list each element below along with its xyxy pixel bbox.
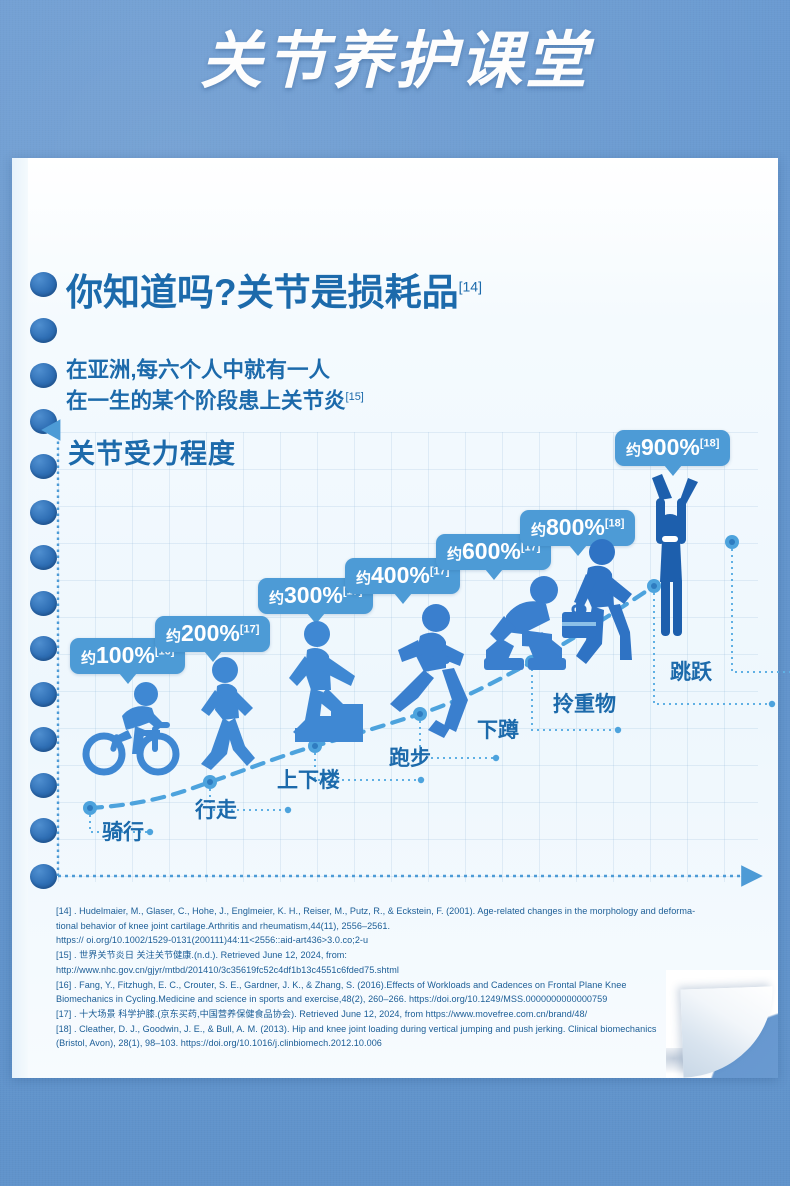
walking-icon	[187, 654, 265, 774]
reference-line: (Bristol, Avon), 28(1), 98–103. https://…	[56, 1036, 746, 1051]
notebook-hole	[30, 272, 57, 297]
subheadline-line-2-wrap: 在一生的某个阶段患上关节炎[15]	[66, 386, 364, 417]
reference-line: [16] . Fang, Y., Fitzhugh, E. C., Croute…	[56, 978, 746, 993]
headline-text: 你知道吗?关节是损耗品	[66, 272, 459, 313]
value-badge-cycling-approx: 约	[81, 650, 96, 667]
value-badge-jumping-value: 900%	[641, 434, 700, 460]
joint-load-chart: 关节受力程度 约100%[16] 约200%[17] 约300%[17] 约40…	[32, 424, 772, 894]
running-icon	[384, 600, 476, 748]
value-badge-walking-ref: [17]	[240, 623, 260, 635]
value-badge-walking: 约200%[17]	[155, 616, 270, 652]
category-leader-endpoint	[615, 727, 621, 733]
value-badge-running-approx: 约	[356, 570, 371, 587]
reference-line: http://www.nhc.gov.cn/gjyr/mtbd/201410/3…	[56, 963, 746, 978]
page-title: 关节养护课堂	[0, 28, 790, 96]
sheet-left-margin	[12, 158, 28, 1078]
value-badge-stairs-value: 300%	[284, 582, 343, 608]
subheadline: 在亚洲,每六个人中就有一人 在一生的某个阶段患上关节炎[15]	[66, 355, 364, 416]
stairs-icon	[277, 620, 377, 770]
value-badge-squat-value: 600%	[462, 538, 521, 564]
data-point-center	[207, 779, 213, 785]
reference-line: https:// oi.org/10.1002/1529-0131(200111…	[56, 933, 746, 948]
header-banner: 关节养护课堂	[0, 0, 790, 152]
notebook-hole	[30, 318, 57, 343]
data-point-center	[729, 539, 735, 545]
references-block: [14] . Hudelmaier, M., Glaser, C., Hohe,…	[56, 904, 746, 1051]
value-badge-running-value: 400%	[371, 562, 430, 588]
value-badge-squat-approx: 约	[447, 546, 462, 563]
reference-entry: [14] . Hudelmaier, M., Glaser, C., Hohe,…	[56, 904, 746, 948]
subheadline-line-1: 在亚洲,每六个人中就有一人	[66, 355, 364, 386]
reference-line: [18] . Cleather, D. J., Goodwin, J. E., …	[56, 1022, 746, 1037]
category-label-jumping: 跳跃	[670, 656, 712, 686]
category-leader-endpoint	[418, 777, 424, 783]
category-leader-endpoint	[769, 701, 775, 707]
value-badge-carrying-ref: [18]	[605, 517, 625, 529]
notebook-hole	[30, 363, 57, 388]
value-badge-stairs-approx: 约	[269, 590, 284, 607]
category-leader-endpoint	[493, 755, 499, 761]
subheadline-line-2: 在一生的某个阶段患上关节炎	[66, 389, 346, 413]
jumping-icon	[632, 470, 708, 642]
cycling-icon	[82, 672, 182, 776]
headline-reference-marker: [14]	[459, 279, 482, 295]
reference-entry: [15] . 世界关节炎日 关注关节健康.(n.d.). Retrieved J…	[56, 948, 746, 977]
category-label-cycling: 骑行	[102, 816, 144, 846]
reference-entry: [17] . 十大场景 科学护膝.(京东买药,中国营养保健食品协会). Retr…	[56, 1007, 746, 1022]
reference-entry: [18] . Cleather, D. J., Goodwin, J. E., …	[56, 1022, 746, 1051]
reference-line: Biomechanics in Cycling.Medicine and sci…	[56, 992, 746, 1007]
value-badge-jumping: 约900%[18]	[615, 430, 730, 466]
value-badge-jumping-approx: 约	[626, 442, 641, 459]
reference-line: [15] . 世界关节炎日 关注关节健康.(n.d.). Retrieved J…	[56, 948, 746, 963]
reference-line: tional behavior of knee joint cartilage.…	[56, 919, 746, 934]
data-point-center	[87, 805, 93, 811]
value-badge-cycling-value: 100%	[96, 642, 155, 668]
value-badge-walking-value: 200%	[181, 620, 240, 646]
reference-line: [17] . 十大场景 科学护膝.(京东买药,中国营养保健食品协会). Retr…	[56, 1007, 746, 1022]
category-label-squat: 下蹲	[477, 714, 519, 744]
headline: 你知道吗?关节是损耗品[14]	[66, 262, 482, 316]
value-badge-carrying-approx: 约	[531, 522, 546, 539]
value-badge-walking-approx: 约	[166, 628, 181, 645]
category-label-walking: 行走	[195, 794, 237, 824]
value-badge-jumping-ref: [18]	[700, 437, 720, 449]
category-leader-endpoint	[147, 829, 153, 835]
reference-entry: [16] . Fang, Y., Fitzhugh, E. C., Croute…	[56, 978, 746, 1007]
reference-line: [14] . Hudelmaier, M., Glaser, C., Hohe,…	[56, 904, 746, 919]
category-leader-endpoint	[285, 807, 291, 813]
subheadline-reference-marker: [15]	[346, 390, 364, 402]
